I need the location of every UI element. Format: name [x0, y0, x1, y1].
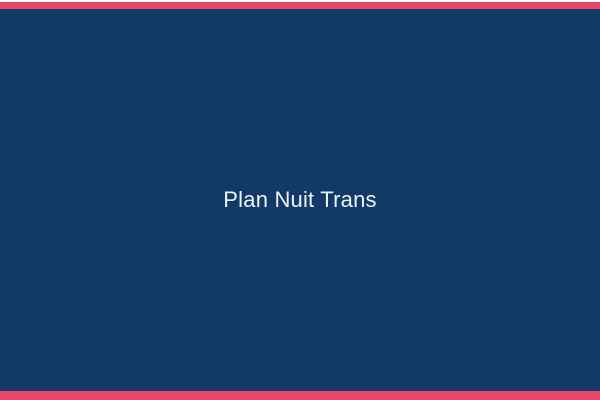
- slide-frame: Plan Nuit Trans: [0, 0, 600, 400]
- bottom-accent-rule: [0, 391, 600, 400]
- slide-stage: Plan Nuit Trans: [0, 9, 600, 391]
- top-accent-rule: [0, 2, 600, 9]
- slide-title: Plan Nuit Trans: [223, 187, 376, 213]
